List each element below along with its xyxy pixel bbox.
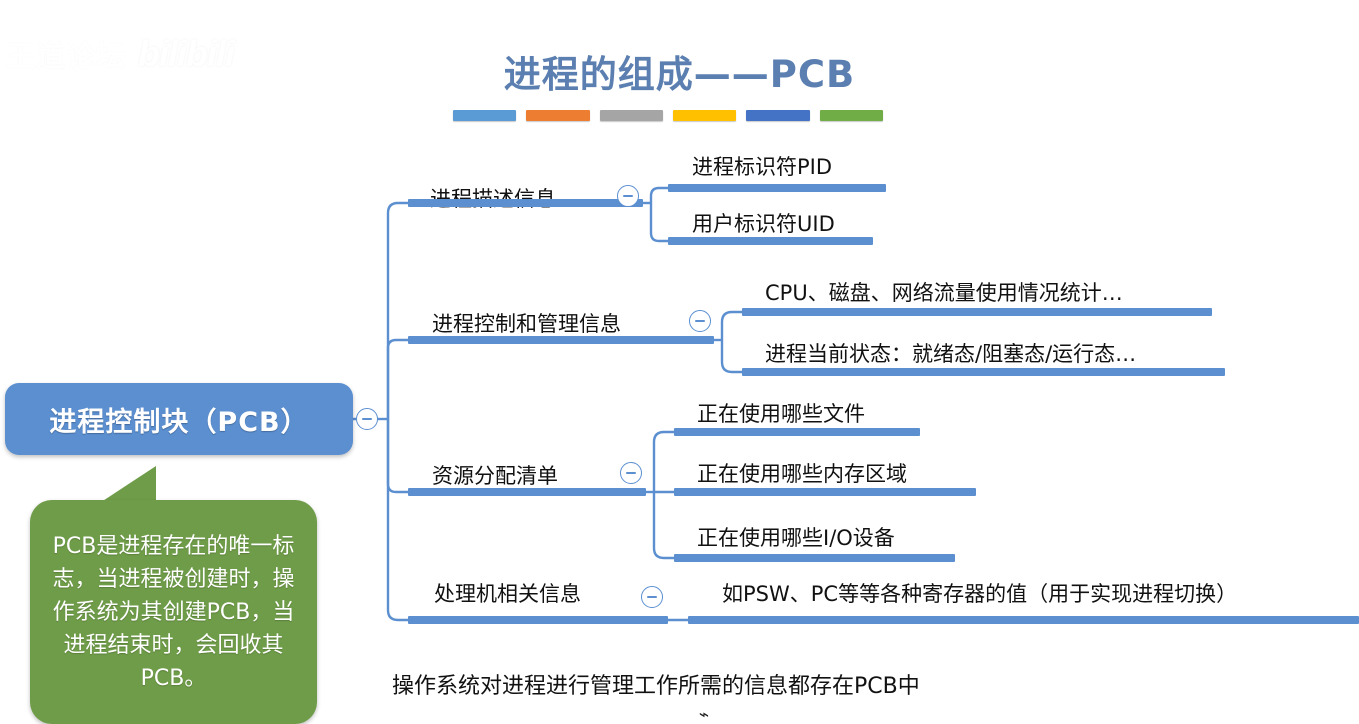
mouse-cursor-icon: ⌁ [697, 706, 711, 724]
rule-segment-2 [526, 110, 589, 121]
leaf-label-usage-stats[interactable]: CPU、磁盘、网络流量使用情况统计… [765, 277, 1123, 307]
branch-label-resource-list[interactable]: 资源分配清单 [432, 460, 558, 490]
branch-2-collapse-toggle-icon[interactable] [689, 310, 711, 332]
root-collapse-toggle-icon[interactable] [356, 408, 378, 430]
title-rule [453, 110, 883, 121]
branch-label-processor-info[interactable]: 处理机相关信息 [434, 578, 581, 608]
footer-note: 操作系统对进程进行管理工作所需的信息都存在PCB中 [392, 668, 920, 700]
branch-underline-2 [408, 336, 714, 344]
leaf-underline-3-2 [674, 488, 976, 496]
root-node-label: 进程控制块（PCB） [49, 400, 308, 439]
leaf-underline-2-1 [742, 308, 1212, 316]
rule-segment-6 [820, 110, 883, 121]
leaf-label-io-devices[interactable]: 正在使用哪些I/O设备 [697, 522, 895, 552]
leaf-underline-3-3 [674, 554, 955, 562]
callout-box: PCB是进程存在的唯一标志，当进程被创建时，操作系统为其创建PCB，当进程结束时… [30, 500, 317, 724]
leaf-label-files[interactable]: 正在使用哪些文件 [697, 398, 865, 428]
leaf-label-current-state[interactable]: 进程当前状态：就绪态/阻塞态/运行态… [765, 338, 1136, 368]
leaf-underline-2-2 [742, 368, 1225, 376]
rule-segment-5 [746, 110, 809, 121]
rule-segment-4 [673, 110, 736, 121]
branch-underline-4 [408, 616, 668, 624]
branch-4-collapse-toggle-icon[interactable] [641, 586, 663, 608]
leaf-underline-1-1 [668, 184, 886, 192]
branch-underline-1 [408, 199, 643, 207]
leaf-label-registers[interactable]: 如PSW、PC等等各种寄存器的值（用于实现进程切换） [722, 578, 1237, 608]
branch-label-control-management[interactable]: 进程控制和管理信息 [432, 308, 621, 338]
rule-segment-1 [453, 110, 516, 121]
rule-segment-3 [600, 110, 663, 121]
leaf-underline-4-1 [688, 616, 1359, 624]
callout-text: PCB是进程存在的唯一标志，当进程被创建时，操作系统为其创建PCB，当进程结束时… [44, 530, 303, 695]
branch-underline-3 [408, 488, 646, 496]
leaf-underline-3-1 [674, 428, 920, 436]
leaf-label-memory[interactable]: 正在使用哪些内存区域 [697, 458, 907, 488]
leaf-label-uid[interactable]: 用户标识符UID [692, 208, 835, 238]
root-node-pcb[interactable]: 进程控制块（PCB） [5, 383, 353, 455]
leaf-label-pid[interactable]: 进程标识符PID [692, 151, 832, 181]
branch-3-collapse-toggle-icon[interactable] [620, 462, 642, 484]
page-title: 进程的组成——PCB [0, 44, 1359, 98]
leaf-underline-1-2 [668, 237, 873, 245]
branch-label-process-description[interactable]: 进程描述信息 [430, 183, 556, 213]
slide-canvas: 王道论坛 bilibili 进程的组成——PCB [0, 0, 1359, 724]
branch-1-collapse-toggle-icon[interactable] [617, 185, 639, 207]
